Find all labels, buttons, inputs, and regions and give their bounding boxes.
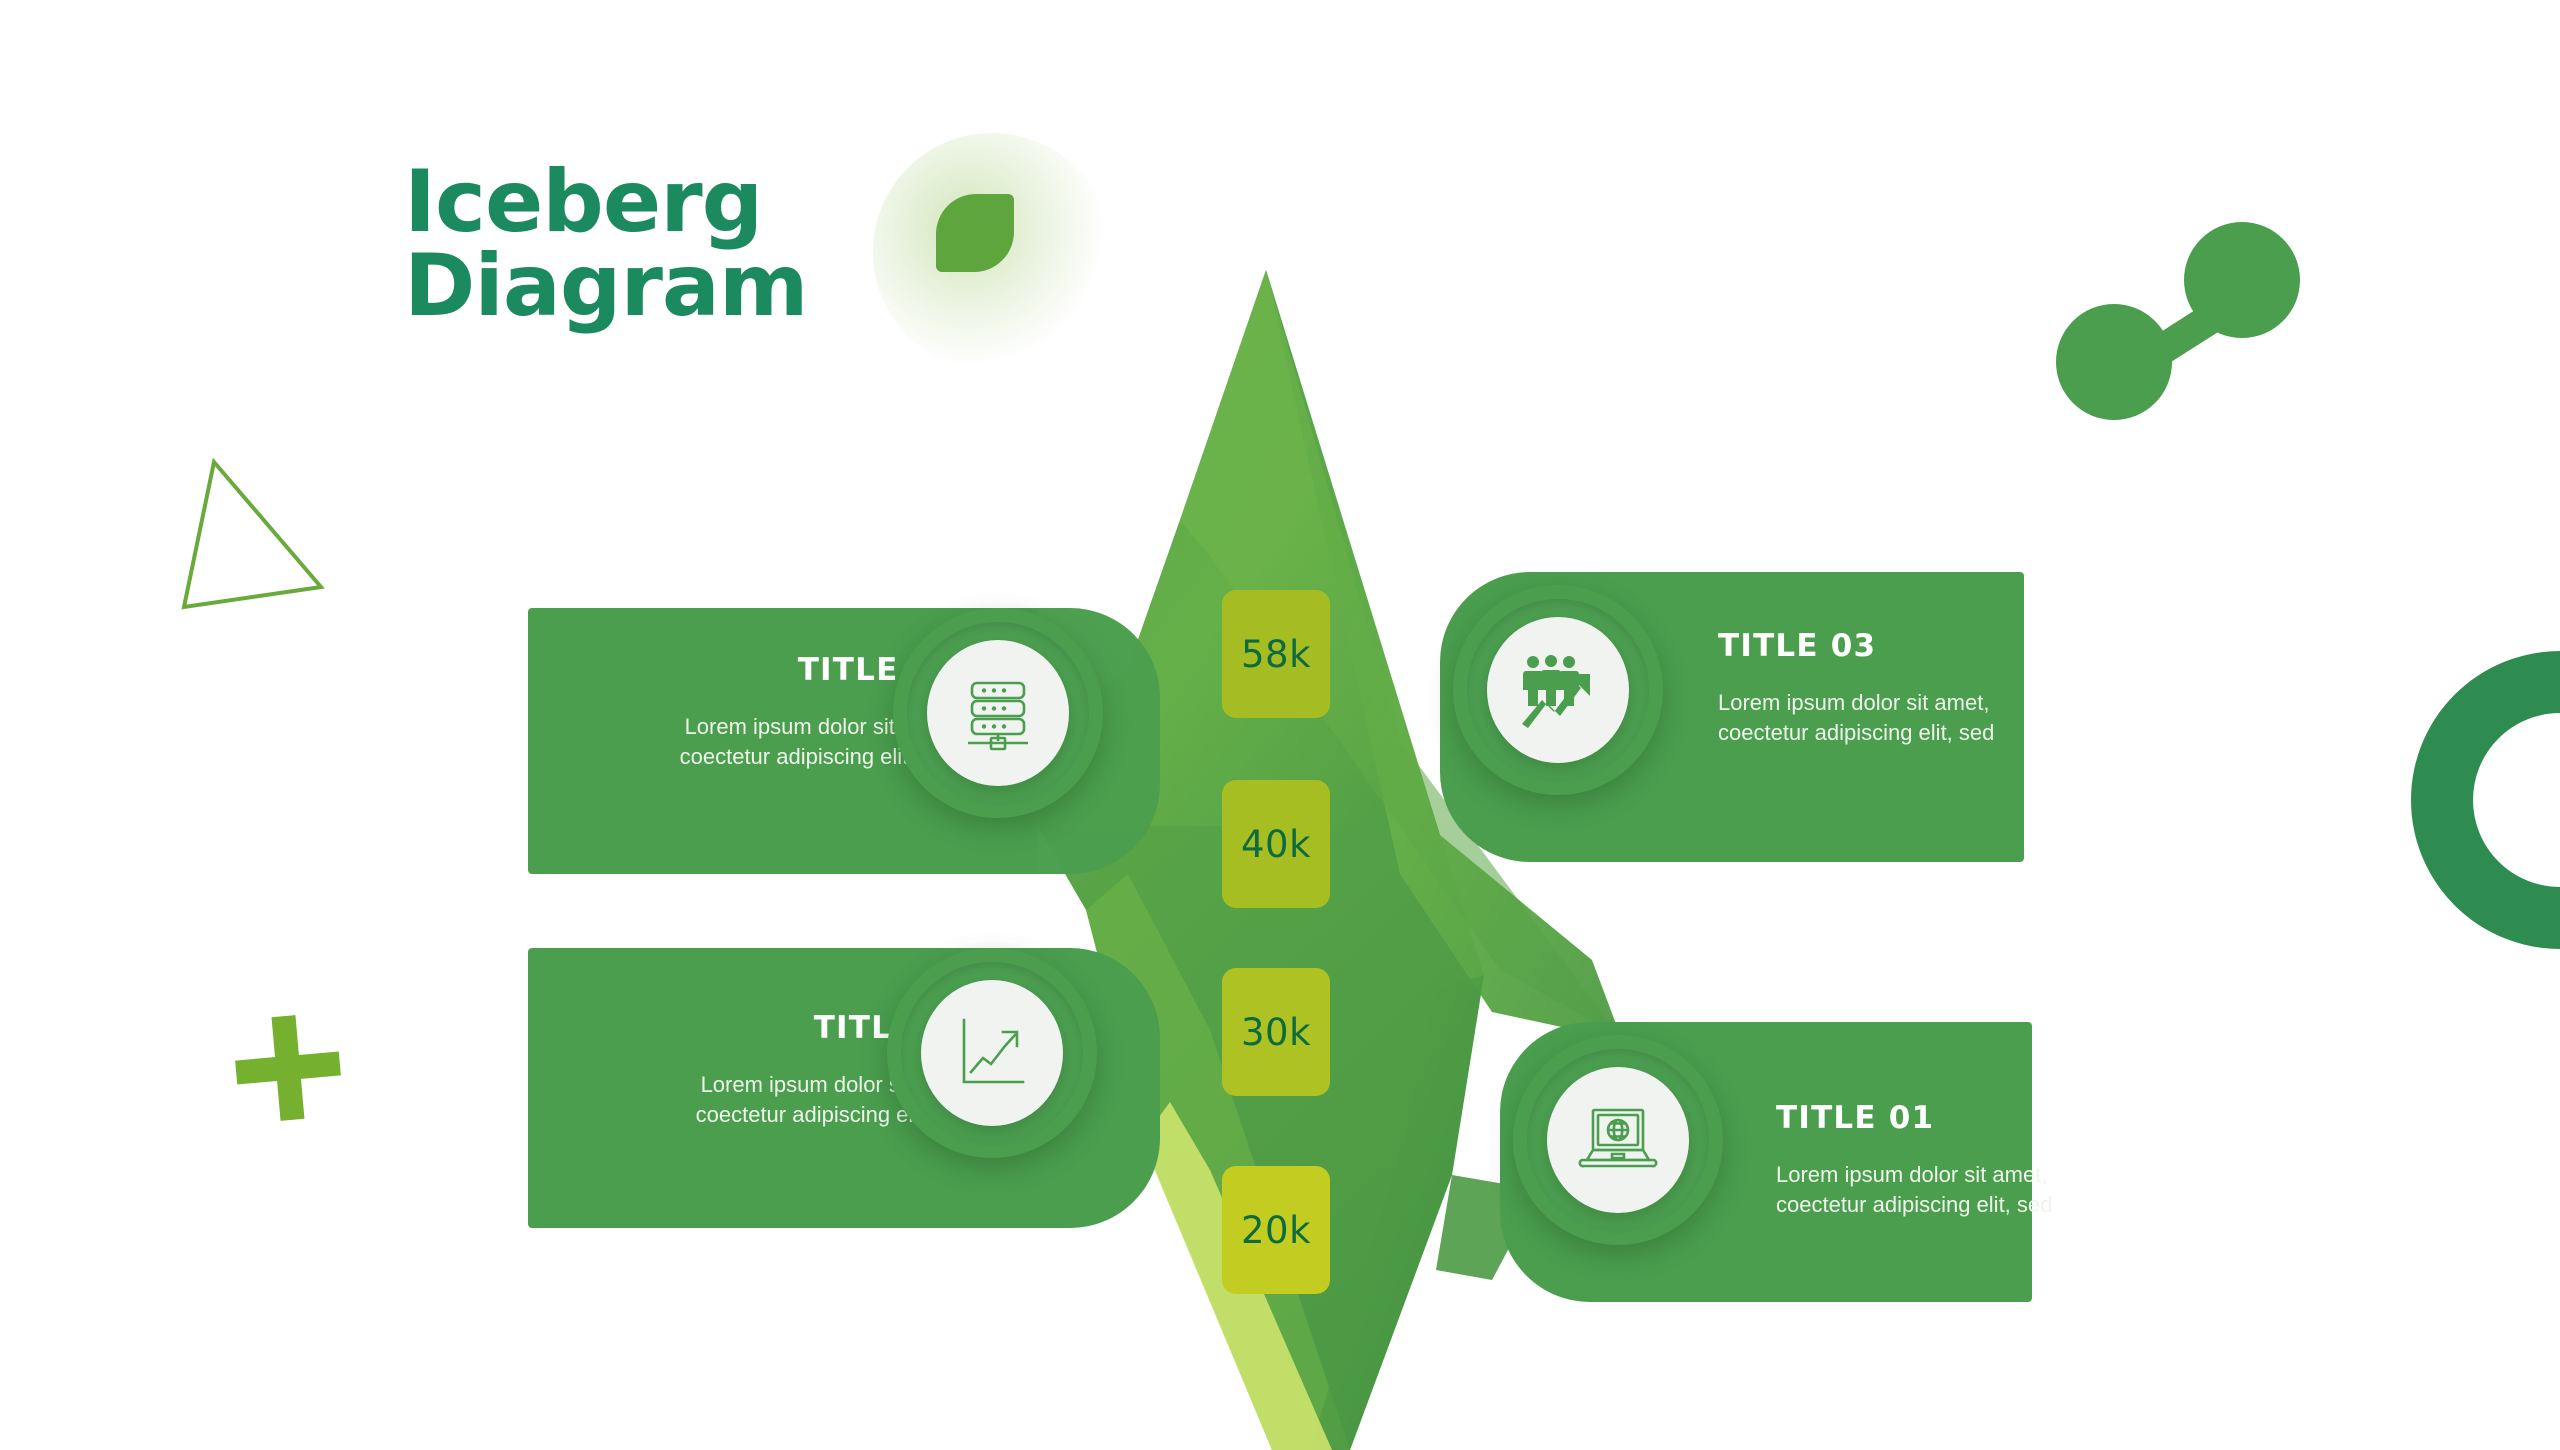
value-chip-58k[interactable]: 58k: [1222, 590, 1330, 718]
card-01-title: TITLE 01: [1776, 1100, 2076, 1136]
medallion-inner-disc: [921, 980, 1063, 1126]
value-chip-20k[interactable]: 20k: [1222, 1166, 1330, 1294]
triangle-outline-icon: [178, 450, 328, 610]
card-03-title: TITLE 03: [1718, 628, 2018, 664]
value-chip-30k[interactable]: 30k: [1222, 968, 1330, 1096]
molecule-icon: [2050, 222, 2310, 422]
card-03-description: Lorem ipsum dolor sit amet, coectetur ad…: [1718, 688, 2018, 749]
medallion-inner-disc: [927, 640, 1069, 786]
medallion-title-03[interactable]: [1453, 585, 1663, 795]
medallion-title-01[interactable]: [1513, 1035, 1723, 1245]
ring-icon: [2410, 650, 2560, 950]
line-chart-icon: [953, 1014, 1031, 1092]
info-card-title-03[interactable]: TITLE 03 Lorem ipsum dolor sit amet, coe…: [1638, 572, 2024, 862]
card-01-description: Lorem ipsum dolor sit amet, coectetur ad…: [1776, 1160, 2076, 1221]
laptop-globe-icon: [1576, 1104, 1660, 1176]
value-chip-40k[interactable]: 40k: [1222, 780, 1330, 908]
value-chip-58k-label: 58k: [1241, 633, 1311, 676]
medallion-title-04[interactable]: [893, 608, 1103, 818]
server-icon: [958, 673, 1038, 753]
slide-canvas: Iceberg Diagram: [0, 0, 2560, 1440]
card-01-body: TITLE 01 Lorem ipsum dolor sit amet, coe…: [1776, 1100, 2076, 1221]
value-chip-30k-label: 30k: [1241, 1011, 1311, 1054]
card-03-body: TITLE 03 Lorem ipsum dolor sit amet, coe…: [1718, 628, 2018, 749]
value-chip-20k-label: 20k: [1241, 1209, 1311, 1252]
people-growth-icon: [1516, 650, 1600, 730]
medallion-inner-disc: [1487, 617, 1629, 763]
info-card-title-01[interactable]: TITLE 01 Lorem ipsum dolor sit amet, coe…: [1700, 1022, 2032, 1302]
value-chip-40k-label: 40k: [1241, 823, 1311, 866]
medallion-inner-disc: [1547, 1067, 1689, 1213]
medallion-title-02[interactable]: [887, 948, 1097, 1158]
plus-icon: [228, 1008, 348, 1128]
